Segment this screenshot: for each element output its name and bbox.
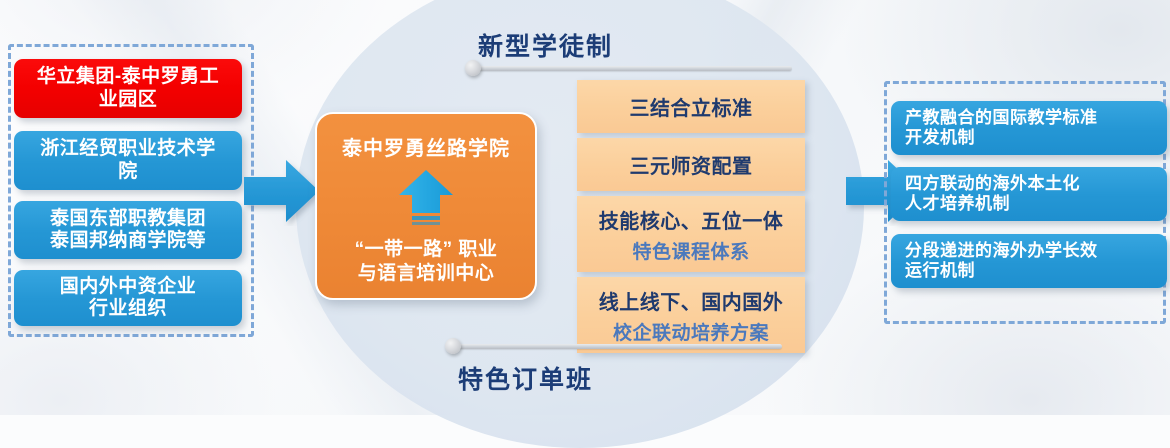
- right-item-2-label: 分段递进的海外办学长效运行机制: [905, 241, 1098, 281]
- bottom-connector-dot: [445, 338, 461, 354]
- bottom-connector-label: 特色订单班: [458, 360, 593, 396]
- right-item-1-label: 四方联动的海外本土化人才培养机制: [905, 174, 1080, 214]
- middle-item-2-main: 技能核心、五位一体: [599, 205, 784, 234]
- left-item-3[interactable]: 国内外中资企业行业组织: [14, 270, 242, 326]
- middle-item-3-sub: 校企联动培养方案: [613, 318, 769, 345]
- center-card[interactable]: 泰中罗勇丝路学院 “一带一路” 职业与语言培训中心: [315, 112, 537, 300]
- center-card-title: 泰中罗勇丝路学院: [342, 132, 510, 161]
- middle-item-3[interactable]: 线上线下、国内国外 校企联动培养方案: [577, 277, 805, 353]
- center-card-subtitle: “一带一路” 职业与语言培训中心: [355, 238, 498, 286]
- right-item-2[interactable]: 分段递进的海外办学长效运行机制: [891, 234, 1167, 288]
- right-item-1[interactable]: 四方联动的海外本土化人才培养机制: [891, 167, 1167, 221]
- middle-item-3-main: 线上线下、国内国外: [599, 286, 784, 315]
- left-item-3-label: 国内外中资企业行业组织: [60, 276, 197, 321]
- bottom-connector-line: [452, 344, 782, 349]
- up-arrow-icon: [395, 169, 457, 227]
- diagram-canvas: 华立集团-泰中罗勇工业园区 浙江经贸职业技术学院 泰国东部职教集团泰国邦纳商学院…: [0, 0, 1170, 415]
- middle-item-1-main: 三元师资配置: [630, 150, 753, 179]
- middle-item-0-main: 三结合立标准: [630, 92, 753, 121]
- middle-item-0[interactable]: 三结合立标准: [577, 80, 805, 133]
- middle-item-1[interactable]: 三元师资配置: [577, 138, 805, 191]
- right-item-0[interactable]: 产教融合的国际教学标准开发机制: [891, 101, 1167, 155]
- right-item-0-label: 产教融合的国际教学标准开发机制: [905, 108, 1098, 148]
- left-item-0-label: 华立集团-泰中罗勇工业园区: [37, 66, 219, 111]
- top-connector-line: [472, 66, 792, 71]
- left-item-2-label: 泰国东部职教集团泰国邦纳商学院等: [50, 208, 206, 253]
- right-arrow-icon: [244, 156, 320, 226]
- middle-item-2-sub: 特色课程体系: [632, 237, 749, 264]
- left-item-1-label: 浙江经贸职业技术学院: [40, 138, 216, 183]
- middle-item-2[interactable]: 技能核心、五位一体 特色课程体系: [577, 196, 805, 272]
- left-item-2[interactable]: 泰国东部职教集团泰国邦纳商学院等: [14, 201, 242, 259]
- arrow-left-to-center: [244, 156, 320, 226]
- center-up-arrow: [395, 169, 457, 232]
- top-connector-label: 新型学徒制: [478, 27, 613, 63]
- left-item-0[interactable]: 华立集团-泰中罗勇工业园区: [14, 59, 242, 118]
- left-item-1[interactable]: 浙江经贸职业技术学院: [14, 131, 242, 190]
